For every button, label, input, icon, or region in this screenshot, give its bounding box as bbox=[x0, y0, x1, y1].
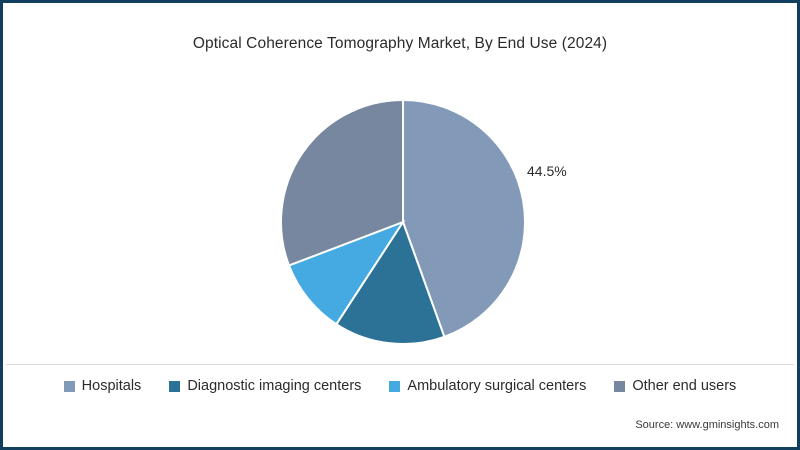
legend-swatch-icon bbox=[64, 381, 75, 392]
legend-item-label: Other end users bbox=[632, 378, 736, 394]
legend-item-label: Ambulatory surgical centers bbox=[407, 378, 586, 394]
legend-item[interactable]: Diagnostic imaging centers bbox=[155, 378, 375, 394]
legend-item[interactable]: Hospitals bbox=[50, 378, 156, 394]
legend-item[interactable]: Ambulatory surgical centers bbox=[375, 378, 600, 394]
legend-swatch-icon bbox=[389, 381, 400, 392]
legend-item[interactable]: Other end users bbox=[600, 378, 750, 394]
chart-legend: HospitalsDiagnostic imaging centersAmbul… bbox=[6, 364, 794, 407]
legend-swatch-icon bbox=[614, 381, 625, 392]
legend-swatch-icon bbox=[169, 381, 180, 392]
chart-figure: Optical Coherence Tomography Market, By … bbox=[0, 0, 800, 450]
legend-item-label: Diagnostic imaging centers bbox=[187, 378, 361, 394]
legend-item-label: Hospitals bbox=[82, 378, 142, 394]
source-attribution: Source: www.gminsights.com bbox=[635, 419, 779, 431]
pie-slice-group bbox=[281, 100, 525, 344]
pie-slice-value-label: 44.5% bbox=[527, 163, 567, 179]
